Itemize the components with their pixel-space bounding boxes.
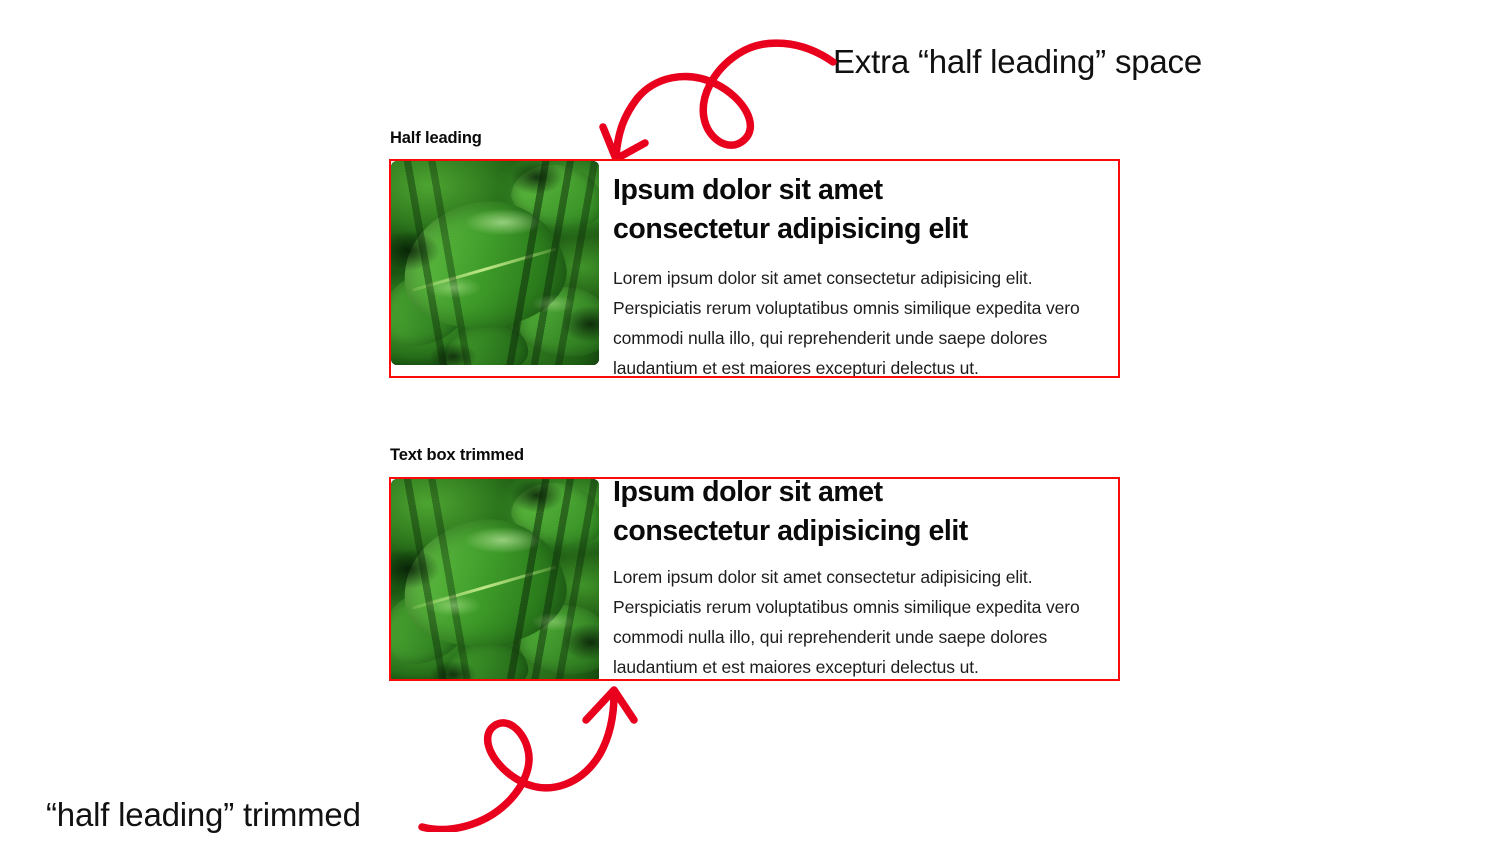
curly-loop-arrow-up-right-icon bbox=[418, 680, 663, 832]
card-text-column: Ipsum dolor sit amet consectetur adipisi… bbox=[599, 479, 1118, 681]
leaf-highlight-layer bbox=[391, 161, 599, 365]
card-body-text: Lorem ipsum dolor sit amet consectetur a… bbox=[613, 249, 1099, 378]
annotation-label-top: Extra “half leading” space bbox=[833, 43, 1202, 81]
section-label-half-leading: Half leading bbox=[390, 129, 482, 148]
card-heading: Ipsum dolor sit amet consectetur adipisi… bbox=[613, 477, 1043, 551]
demo-card-half-leading: Ipsum dolor sit amet consectetur adipisi… bbox=[389, 159, 1120, 378]
demo-card-text-box-trimmed: Ipsum dolor sit amet consectetur adipisi… bbox=[389, 477, 1120, 681]
card-heading: Ipsum dolor sit amet consectetur adipisi… bbox=[613, 161, 1043, 249]
annotation-label-bottom: “half leading” trimmed bbox=[46, 796, 361, 834]
section-label-text-box-trimmed: Text box trimmed bbox=[390, 446, 524, 465]
curly-loop-arrow-down-left-icon bbox=[588, 28, 840, 168]
card-text-column: Ipsum dolor sit amet consectetur adipisi… bbox=[599, 161, 1118, 378]
card-body-text: Lorem ipsum dolor sit amet consectetur a… bbox=[613, 551, 1099, 681]
diagram-canvas: Extra “half leading” space Half leading … bbox=[0, 0, 1507, 863]
leaf-highlight-layer bbox=[391, 479, 599, 681]
monstera-thumbnail bbox=[391, 161, 599, 365]
monstera-thumbnail bbox=[391, 479, 599, 681]
